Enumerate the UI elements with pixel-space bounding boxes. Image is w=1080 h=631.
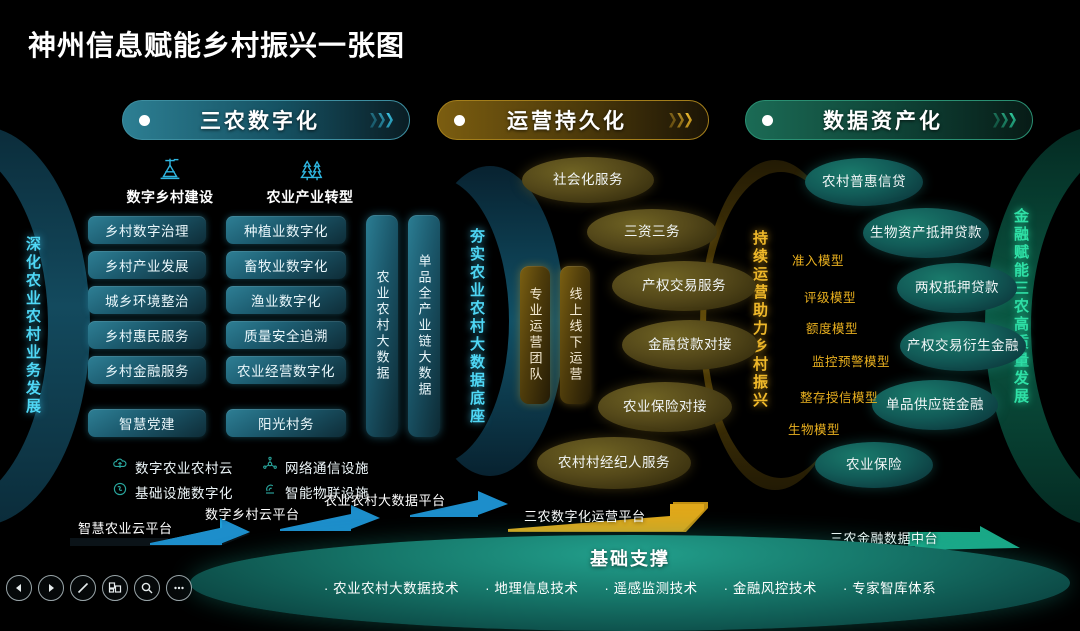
section-title: 运营持久化 bbox=[465, 105, 669, 135]
status-dot bbox=[762, 115, 773, 126]
arc-label-right: 金融赋能三农高质量发展 bbox=[1010, 208, 1031, 406]
pill-item[interactable]: 畜牧业数字化 bbox=[226, 251, 346, 279]
arc-label-mid-left: 夯实农业农村大数据底座 bbox=[466, 228, 487, 426]
infra-item-network[interactable]: 网络通信设施 bbox=[262, 456, 369, 477]
arrow-label: 数字乡村云平台 bbox=[205, 504, 300, 523]
node-two-rights-mortgage[interactable]: 两权抵押贷款 bbox=[897, 263, 1017, 313]
presentation-toolbar bbox=[6, 575, 192, 601]
magnifier-icon bbox=[140, 581, 154, 595]
pill-item-extra[interactable]: 阳光村务 bbox=[226, 409, 346, 437]
arc-label-mid-right: 持续运营助力乡村振兴 bbox=[749, 230, 770, 410]
more-options-button[interactable] bbox=[166, 575, 192, 601]
node-loan-matching[interactable]: 金融贷款对接 bbox=[622, 320, 758, 370]
prev-slide-button[interactable] bbox=[6, 575, 32, 601]
network-node-icon bbox=[262, 456, 278, 477]
model-label: 额度模型 bbox=[806, 318, 858, 337]
pill-item[interactable]: 乡村数字治理 bbox=[88, 216, 206, 244]
section-header-data-asset[interactable]: 数据资产化 bbox=[745, 100, 1033, 140]
digital-infra-icon bbox=[112, 481, 128, 502]
chevron-right-icon bbox=[669, 113, 692, 128]
village-build-icon bbox=[110, 150, 230, 184]
base-items-list: 农业农村大数据技术 地理信息技术 遥感监测技术 金融风控技术 专家智库体系 bbox=[190, 577, 1070, 597]
base-item[interactable]: 专家智库体系 bbox=[843, 577, 936, 597]
pill-item[interactable]: 农业经营数字化 bbox=[226, 356, 346, 384]
model-label: 评级模型 bbox=[804, 287, 856, 306]
grid-icon bbox=[108, 581, 122, 595]
ellipsis-icon bbox=[172, 581, 186, 595]
arrow-label: 智慧农业云平台 bbox=[78, 518, 173, 537]
zoom-button[interactable] bbox=[134, 575, 160, 601]
arrow-label: 农业农村大数据平台 bbox=[324, 490, 446, 509]
base-item[interactable]: 地理信息技术 bbox=[485, 577, 578, 597]
next-slide-button[interactable] bbox=[38, 575, 64, 601]
triangle-left-icon bbox=[13, 582, 25, 594]
arc-label-left: 深化农业农村业务发展 bbox=[22, 236, 43, 416]
status-dot bbox=[139, 115, 150, 126]
section-title: 三农数字化 bbox=[150, 105, 370, 135]
section-header-sannong-digital[interactable]: 三农数字化 bbox=[122, 100, 410, 140]
node-supply-chain-finance[interactable]: 单品供应链金融 bbox=[872, 380, 998, 430]
model-label: 准入模型 bbox=[792, 250, 844, 269]
model-label: 生物模型 bbox=[788, 419, 840, 438]
node-bio-asset-loan[interactable]: 生物资产抵押贷款 bbox=[863, 208, 989, 258]
column-head-digital-village: 数字乡村建设 bbox=[110, 150, 230, 207]
pill-item[interactable]: 乡村金融服务 bbox=[88, 356, 206, 384]
pill-item[interactable]: 渔业数字化 bbox=[226, 286, 346, 314]
arrow-label: 三农数字化运营平台 bbox=[524, 506, 646, 525]
node-three-funds[interactable]: 三资三务 bbox=[587, 209, 717, 255]
pen-button[interactable] bbox=[70, 575, 96, 601]
section-title: 数据资产化 bbox=[773, 105, 993, 135]
infographic-canvas: 神州信息赋能乡村振兴一张图 深化农业农村业务发展 夯实农业农村大数据底座 持续运… bbox=[0, 0, 1080, 607]
model-label: 整存授信模型 bbox=[800, 387, 878, 406]
base-item[interactable]: 遥感监测技术 bbox=[604, 577, 697, 597]
arc-band-left bbox=[0, 126, 90, 526]
node-agri-insurance[interactable]: 农业保险 bbox=[815, 442, 933, 488]
vertical-pill-operation-team[interactable]: 专业运营团队 bbox=[520, 266, 550, 404]
pen-icon bbox=[76, 581, 90, 595]
infra-label: 网络通信设施 bbox=[285, 457, 369, 477]
cloud-upload-icon bbox=[112, 456, 128, 477]
base-title: 基础支撑 bbox=[190, 545, 1070, 571]
vertical-pill-online-offline[interactable]: 线上线下运营 bbox=[560, 266, 590, 404]
page-title: 神州信息赋能乡村振兴一张图 bbox=[28, 24, 405, 64]
chevron-right-icon bbox=[370, 113, 393, 128]
chevron-right-icon bbox=[993, 113, 1016, 128]
node-social-service[interactable]: 社会化服务 bbox=[522, 157, 654, 203]
pill-item[interactable]: 城乡环境整治 bbox=[88, 286, 206, 314]
base-item[interactable]: 农业农村大数据技术 bbox=[324, 577, 459, 597]
node-village-broker-service[interactable]: 农村村经纪人服务 bbox=[537, 437, 691, 489]
status-dot bbox=[454, 115, 465, 126]
node-property-trade-service[interactable]: 产权交易服务 bbox=[612, 261, 756, 311]
node-insurance-matching[interactable]: 农业保险对接 bbox=[598, 382, 732, 432]
column-head-agri-industry: 农业产业转型 bbox=[250, 150, 370, 207]
model-label: 监控预警模型 bbox=[812, 351, 890, 370]
infra-item-cloud[interactable]: 数字农业农村云 bbox=[112, 456, 233, 477]
node-property-derivative-finance[interactable]: 产权交易衍生金融 bbox=[900, 321, 1026, 371]
slides-overview-button[interactable] bbox=[102, 575, 128, 601]
pill-item[interactable]: 乡村惠民服务 bbox=[88, 321, 206, 349]
vertical-pill-supply-chain-data[interactable]: 单品全产业链大数据 bbox=[408, 215, 440, 437]
pill-item[interactable]: 乡村产业发展 bbox=[88, 251, 206, 279]
pill-item[interactable]: 种植业数字化 bbox=[226, 216, 346, 244]
column-title: 数字乡村建设 bbox=[110, 187, 230, 207]
column-title: 农业产业转型 bbox=[250, 187, 370, 207]
vertical-pill-big-data[interactable]: 农业农村大数据 bbox=[366, 215, 398, 437]
infra-label: 数字农业农村云 bbox=[135, 457, 233, 477]
arrow-agri-bigdata-platform: 农业农村大数据平台 bbox=[318, 484, 508, 518]
node-inclusive-credit[interactable]: 农村普惠信贷 bbox=[805, 158, 923, 206]
base-item[interactable]: 金融风控技术 bbox=[724, 577, 817, 597]
base-support-panel: 基础支撑 农业农村大数据技术 地理信息技术 遥感监测技术 金融风控技术 专家智库… bbox=[190, 535, 1070, 631]
triangle-right-icon bbox=[45, 582, 57, 594]
arrow-sannong-operation-platform: 三农数字化运营平台 bbox=[508, 498, 708, 532]
section-header-operation[interactable]: 运营持久化 bbox=[437, 100, 709, 140]
pill-item[interactable]: 质量安全追溯 bbox=[226, 321, 346, 349]
pill-item-extra[interactable]: 智慧党建 bbox=[88, 409, 206, 437]
agriculture-industry-icon bbox=[250, 150, 370, 184]
